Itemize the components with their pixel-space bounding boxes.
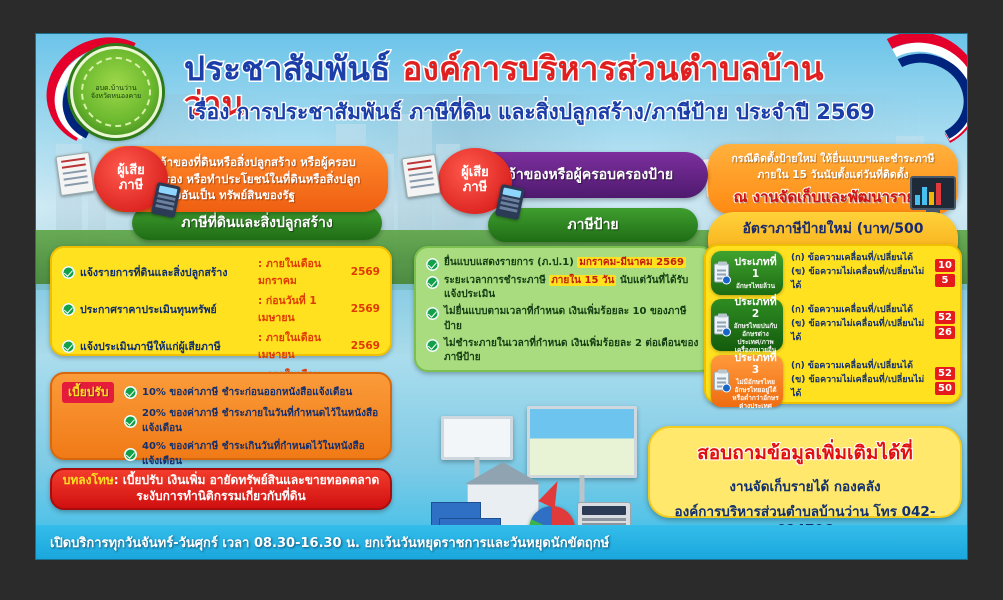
document-icon-middle <box>401 154 440 198</box>
check-icon <box>62 266 75 279</box>
highlight-text: มกราคม-มีนาคม 2569 <box>577 257 686 268</box>
rate-item-a: (ก) ข้อความเคลื่อนที่/เปลี่ยนได้ <box>791 360 931 374</box>
land-tax-schedule-card: แจ้งรายการที่ดินและสิ่งปลูกสร้าง: ภายในเ… <box>50 246 392 356</box>
penalty-card: เบี้ยปรับ10% ของค่าภาษี ชำระก่อนออกหนังส… <box>50 372 392 460</box>
service-hours-text: เปิดบริการทุกวันจันทร์-วันศุกร์ เวลา 08.… <box>50 532 609 553</box>
rate-row: ประเภทที่ 1อักษรไทยล้วน(ก) ข้อความเคลื่อ… <box>711 251 955 295</box>
sign-tax-rule-text: ระยะเวลาการชำระภาษี ภายใน 15 วัน นับแต่ว… <box>444 274 702 303</box>
rate-number-a: 52 <box>935 311 955 324</box>
rate-item-b: (ข) ข้อความไม่เคลื่อนที่/เปลี่ยนไม่ได้ <box>791 374 931 402</box>
rate-type-badge: ประเภทที่ 1อักษรไทยล้วน <box>711 251 783 295</box>
rate-row: ประเภทที่ 2อักษรไทยปนกับอักษรต่างประเทศ/… <box>711 299 955 351</box>
schedule-year: 2569 <box>351 303 380 315</box>
rate-type-badge: ประเภทที่ 2อักษรไทยปนกับอักษรต่างประเทศ/… <box>711 299 783 351</box>
penalty-row: เบี้ยปรับ10% ของค่าภาษี ชำระก่อนออกหนังส… <box>62 381 380 403</box>
schedule-label: แจ้งรายการที่ดินและสิ่งปลูกสร้าง <box>80 264 258 281</box>
sign-tax-rule-rows: ยื่นแบบแสดงรายการ (ภ.ป.1) มกราคม-มีนาคม … <box>426 256 702 366</box>
criminal-penalty-card: บทลงโทษ: เบี้ยปรับ เงินเพิ่ม อายัดทรัพย์… <box>50 468 392 510</box>
schedule-row: ประกาศราคาประเมินทุนทรัพย์: ก่อนวันที่ 1… <box>62 292 380 326</box>
organization-emblem: อบต.บ้านว่าน จังหวัดหนองคาย <box>70 46 162 138</box>
schedule-value: : ก่อนวันที่ 1 เมษายน <box>258 292 351 326</box>
criminal-penalty-tag: บทลงโทษ <box>63 473 114 487</box>
rate-number-a: 10 <box>935 259 955 272</box>
sign-tax-rule-row: ยื่นแบบแสดงรายการ (ภ.ป.1) มกราคม-มีนาคม … <box>426 256 702 271</box>
check-icon <box>426 258 439 271</box>
check-icon <box>124 386 137 399</box>
schedule-value: : ภายในเดือน เมษายน <box>258 329 351 363</box>
check-icon <box>124 448 137 461</box>
rate-type-name: ประเภทที่ 2 <box>731 296 780 321</box>
penalty-text: 10% ของค่าภาษี ชำระก่อนออกหนังสือแจ้งเตื… <box>142 385 352 400</box>
sign-rate-table-card: ประเภทที่ 1อักษรไทยล้วน(ก) ข้อความเคลื่อ… <box>704 244 962 404</box>
schedule-row: แจ้งรายการที่ดินและสิ่งปลูกสร้าง: ภายในเ… <box>62 255 380 289</box>
rate-number-list: 5226 <box>935 299 955 351</box>
rate-number-a: 52 <box>935 367 955 380</box>
service-hours-bar: เปิดบริการทุกวันจันทร์-วันศุกร์ เวลา 08.… <box>36 525 967 559</box>
poster-canvas: อบต.บ้านว่าน จังหวัดหนองคาย ประชาสัมพันธ… <box>35 33 968 560</box>
clipboard-icon <box>714 372 729 391</box>
check-icon <box>62 303 75 316</box>
rate-item-list: (ก) ข้อความเคลื่อนที่/เปลี่ยนได้(ข) ข้อค… <box>783 251 931 295</box>
schedule-year: 2569 <box>351 340 380 352</box>
criminal-penalty-text-1: : เบี้ยปรับ เงินเพิ่ม อายัดทรัพย์สินและข… <box>114 473 380 487</box>
criminal-penalty-line-1: บทลงโทษ: เบี้ยปรับ เงินเพิ่ม อายัดทรัพย์… <box>63 473 380 489</box>
schedule-label: แจ้งประเมินภาษีให้แก่ผู้เสียภาษี <box>80 338 258 355</box>
check-icon <box>426 276 439 289</box>
sign-tax-rule-row: ไม่ยื่นแบบตามเวลาที่กำหนด เงินเพิ่มร้อยล… <box>426 305 702 334</box>
sign-rate-rows: ประเภทที่ 1อักษรไทยล้วน(ก) ข้อความเคลื่อ… <box>711 251 955 407</box>
chart-monitor-icon <box>910 176 956 210</box>
contact-card: สอบถามข้อมูลเพิ่มเติมได้ที่ งานจัดเก็บรา… <box>648 426 962 518</box>
rate-row: ประเภทที่ 3ไม่มีอักษรไทย อักษรไทยอยู่ใต้… <box>711 355 955 407</box>
highlight-text: ภายใน 15 วัน <box>549 275 616 286</box>
clipboard-icon <box>714 316 729 335</box>
new-sign-notice-line-1: กรณีติดตั้งป้ายใหม่ ให้ยื่นแบบฯและชำระภา… <box>718 152 948 168</box>
check-icon <box>62 340 75 353</box>
rate-item-b: (ข) ข้อความไม่เคลื่อนที่/เปลี่ยนไม่ได้ <box>791 266 931 294</box>
rate-type-sub: อักษรไทยล้วน <box>731 282 780 290</box>
rate-item-list: (ก) ข้อความเคลื่อนที่/เปลี่ยนได้(ข) ข้อค… <box>783 355 931 407</box>
emblem-inner-label: อบต.บ้านว่าน จังหวัดหนองคาย <box>81 57 151 127</box>
rate-type-sub: ไม่มีอักษรไทย อักษรไทยอยู่ใต้ หรือต่ำกว่… <box>731 378 780 411</box>
schedule-label: ประกาศราคาประเมินทุนทรัพย์ <box>80 301 258 318</box>
sign-tax-rule-row: ระยะเวลาการชำระภาษี ภายใน 15 วัน นับแต่ว… <box>426 274 702 303</box>
check-icon <box>426 339 439 352</box>
check-icon <box>124 415 137 428</box>
penalty-row: 20% ของค่าภาษี ชำระภายในวันที่กำหนดไว้ใน… <box>62 406 380 436</box>
criminal-penalty-line-2: ระงับการทำนิติกรรมเกี่ยวกับที่ดิน <box>63 489 380 505</box>
rate-number-list: 105 <box>935 251 955 295</box>
rate-number-list: 5250 <box>935 355 955 407</box>
penalty-text: 40% ของค่าภาษี ชำระเกินวันที่กำหนดไว้ในห… <box>142 439 380 469</box>
rate-type-name: ประเภทที่ 3 <box>731 352 780 377</box>
schedule-value: : ภายในเดือน มกราคม <box>258 255 351 289</box>
rate-item-b: (ข) ข้อความไม่เคลื่อนที่/เปลี่ยนไม่ได้ <box>791 318 931 346</box>
rate-type-sub: อักษรไทยปนกับอักษรต่างประเทศ/ภาพ เครื่อง… <box>731 322 780 355</box>
rate-number-b: 50 <box>935 382 955 395</box>
clipboard-icon <box>714 264 729 283</box>
penalty-text: 20% ของค่าภาษี ชำระภายในวันที่กำหนดไว้ใน… <box>142 406 380 436</box>
contact-heading: สอบถามข้อมูลเพิ่มเติมได้ที่ <box>662 438 948 468</box>
schedule-row: แจ้งประเมินภาษีให้แก่ผู้เสียภาษี: ภายในเ… <box>62 329 380 363</box>
rate-type-badge: ประเภทที่ 3ไม่มีอักษรไทย อักษรไทยอยู่ใต้… <box>711 355 783 407</box>
sign-tax-rule-text: ไม่ยื่นแบบตามเวลาที่กำหนด เงินเพิ่มร้อยล… <box>444 305 702 334</box>
penalty-row: 40% ของค่าภาษี ชำระเกินวันที่กำหนดไว้ในห… <box>62 439 380 469</box>
rate-number-b: 5 <box>935 274 955 287</box>
sign-tax-rule-text: ไม่ชำระภายในเวลาที่กำหนด เงินเพิ่มร้อยละ… <box>444 337 702 366</box>
sign-tax-rule-text: ยื่นแบบแสดงรายการ (ภ.ป.1) มกราคม-มีนาคม … <box>444 256 686 271</box>
rate-number-b: 26 <box>935 326 955 339</box>
contact-line-1: งานจัดเก็บรายได้ กองคลัง <box>662 475 948 497</box>
sign-tax-rules-card: ยื่นแบบแสดงรายการ (ภ.ป.1) มกราคม-มีนาคม … <box>414 246 714 372</box>
rate-type-name: ประเภทที่ 1 <box>731 256 780 281</box>
document-icon-left <box>55 152 94 196</box>
check-icon <box>426 307 439 320</box>
sign-tax-rule-row: ไม่ชำระภายในเวลาที่กำหนด เงินเพิ่มร้อยละ… <box>426 337 702 366</box>
rate-item-a: (ก) ข้อความเคลื่อนที่/เปลี่ยนได้ <box>791 252 931 266</box>
schedule-year: 2569 <box>351 266 380 278</box>
rate-item-list: (ก) ข้อความเคลื่อนที่/เปลี่ยนได้(ข) ข้อค… <box>783 299 931 351</box>
fine-tag: เบี้ยปรับ <box>62 382 114 403</box>
page-subtitle: เรื่อง การประชาสัมพันธ์ ภาษีที่ดิน และสิ… <box>188 96 928 129</box>
title-part-1: ประชาสัมพันธ์ <box>184 49 391 88</box>
rate-item-a: (ก) ข้อความเคลื่อนที่/เปลี่ยนได้ <box>791 304 931 318</box>
